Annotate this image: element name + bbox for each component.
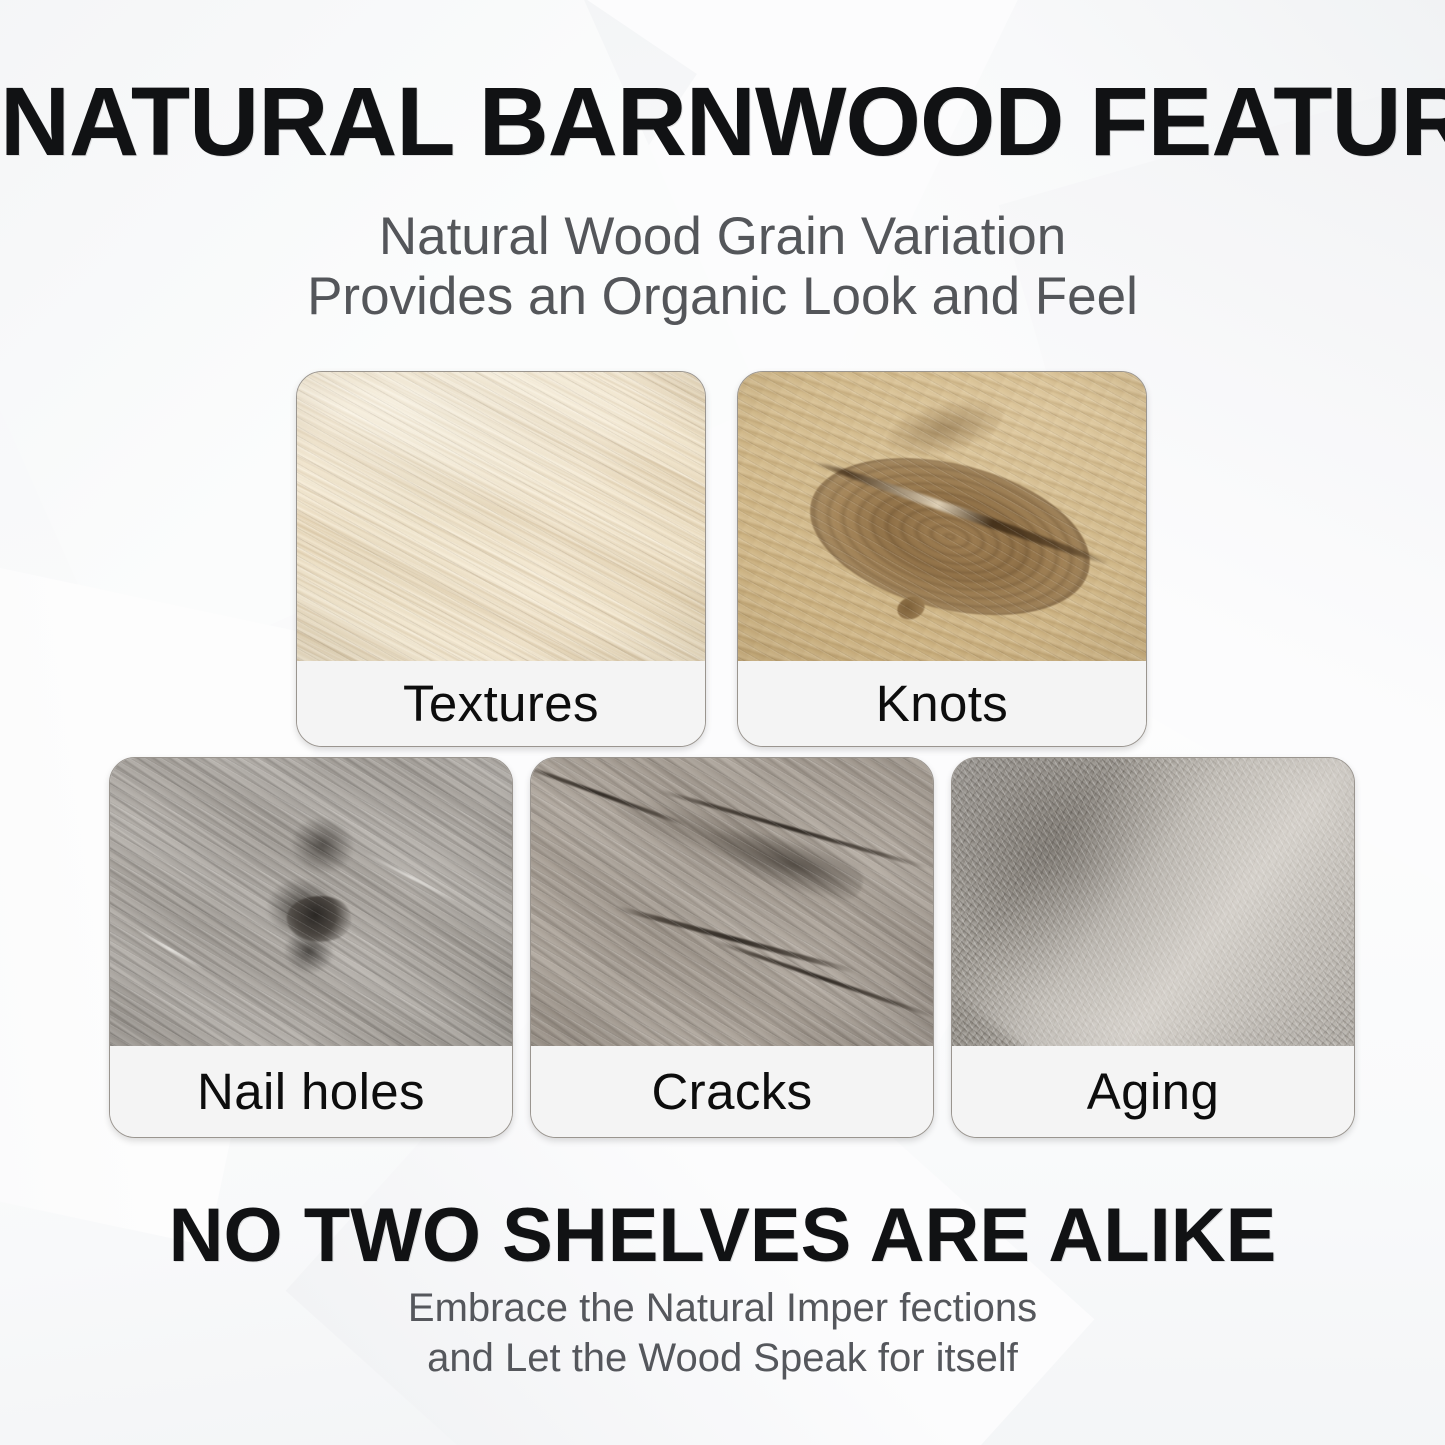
card-caption-textures: Textures	[297, 661, 705, 746]
subtitle-bottom: Embrace the Natural Imper fections and L…	[0, 1283, 1445, 1383]
bottom-headline: NO TWO SHELVES ARE ALIKE	[0, 1192, 1445, 1279]
subtitle-top-line-1: Natural Wood Grain Variation	[0, 207, 1445, 267]
card-image-textures	[297, 372, 705, 661]
feature-card-cracks[interactable]: Cracks	[530, 757, 934, 1138]
wood-texture-pale-pine	[297, 372, 705, 661]
card-image-aging	[952, 758, 1354, 1046]
page-title: NATURAL BARNWOOD FEATURES	[0, 66, 1445, 178]
subtitle-top-line-2: Provides an Organic Look and Feel	[0, 267, 1445, 327]
poster-canvas: NATURAL BARNWOOD FEATURES Natural Wood G…	[0, 0, 1445, 1445]
subtitle-top: Natural Wood Grain Variation Provides an…	[0, 207, 1445, 327]
feature-card-textures[interactable]: Textures	[296, 371, 706, 747]
card-image-nail-holes	[110, 758, 512, 1046]
feature-card-nail-holes[interactable]: Nail holes	[109, 757, 513, 1138]
subtitle-bottom-line-1: Embrace the Natural Imper fections	[0, 1283, 1445, 1333]
card-caption-knots: Knots	[738, 661, 1146, 746]
fibrous-fuzz-overlay	[952, 758, 1354, 1046]
card-image-cracks	[531, 758, 933, 1046]
card-caption-cracks: Cracks	[531, 1046, 933, 1137]
card-caption-aging: Aging	[952, 1046, 1354, 1137]
subtitle-bottom-line-2: and Let the Wood Speak for itself	[0, 1333, 1445, 1383]
card-caption-nail-holes: Nail holes	[110, 1046, 512, 1137]
feature-card-knots[interactable]: Knots	[737, 371, 1147, 747]
card-image-knots	[738, 372, 1146, 661]
feature-card-aging[interactable]: Aging	[951, 757, 1355, 1138]
